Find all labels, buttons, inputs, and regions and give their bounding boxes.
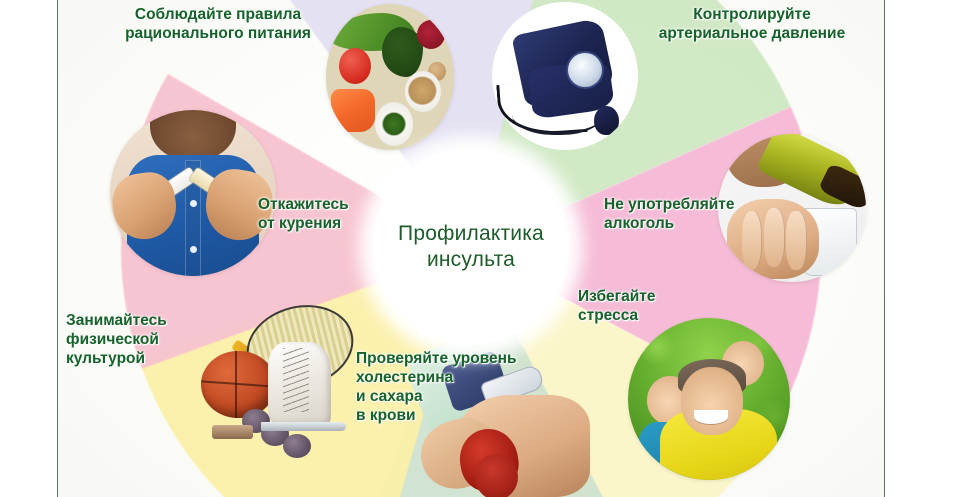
label-nutrition: Соблюдайте правила рационального питания xyxy=(98,6,338,44)
label-stress: Избегайте стресса xyxy=(578,288,718,326)
blood-pressure-monitor-photo xyxy=(492,2,638,150)
label-cholesterol: Проверяйте уровень холестерина и сахара … xyxy=(356,350,546,426)
page-title: Профилактика инсульта xyxy=(398,221,544,272)
stroke-prevention-infographic: Профилактика инсульта Соблюдайте правила… xyxy=(0,0,960,497)
label-physical-activity: Занимайтесь физической культурой xyxy=(66,312,226,369)
right-frame-rule xyxy=(884,0,885,497)
center-hub: Профилактика инсульта xyxy=(373,149,569,345)
label-alcohol: Не употребляйте алкоголь xyxy=(604,196,780,234)
label-blood-pressure: Контролируйте артериальное давление xyxy=(620,6,884,44)
happy-family-photo xyxy=(628,318,790,480)
label-smoking: Откажитесь от курения xyxy=(258,196,408,234)
healthy-food-plate-photo xyxy=(326,4,454,150)
breaking-cigarette-photo xyxy=(110,110,276,276)
infographic-canvas: Профилактика инсульта Соблюдайте правила… xyxy=(58,0,884,497)
